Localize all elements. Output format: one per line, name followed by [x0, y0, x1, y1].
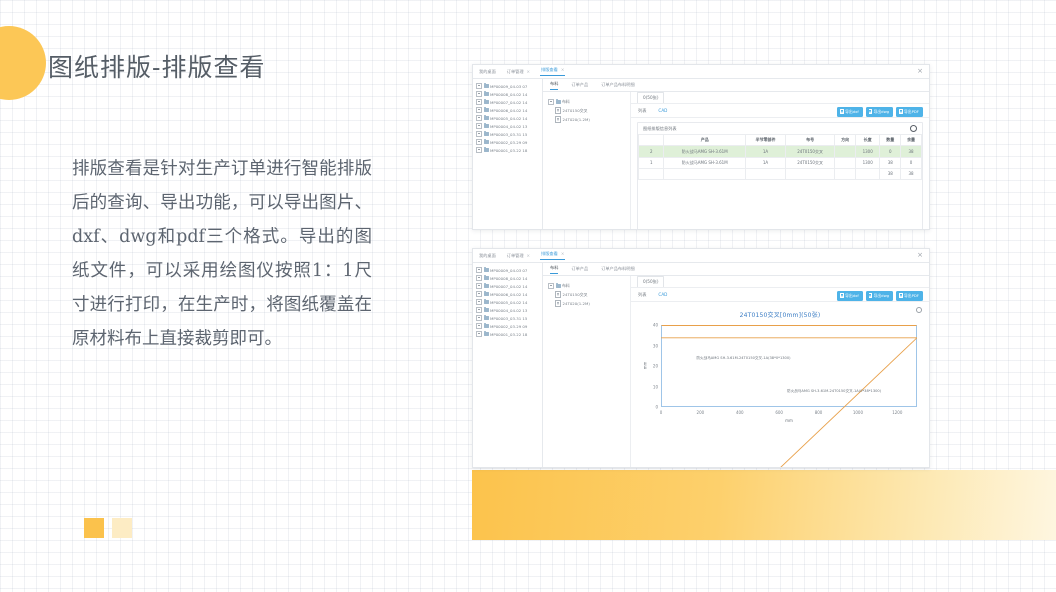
tab-order-management[interactable]: 订单管理× — [506, 69, 531, 75]
export-pdf-label: 导出PDF — [904, 293, 919, 299]
content-split-top: 布料 24T0150交叉 24T020(1.2M) 0(50张) 列表 CAD … — [543, 92, 929, 230]
tab-label: 排版查看 — [541, 67, 558, 72]
file-icon — [555, 300, 561, 307]
cell-direction — [835, 157, 856, 168]
list-item[interactable]: MP00001_03.22 18 — [476, 330, 542, 338]
th-direction: 方向 — [835, 135, 856, 146]
checkbox-icon[interactable] — [476, 139, 482, 145]
tab-close-icon[interactable]: × — [561, 67, 565, 72]
tab-my-desktop[interactable]: 我的桌面 — [478, 253, 497, 259]
cell-index: 2 — [639, 146, 664, 157]
x-axis-label: mm — [661, 418, 917, 423]
tree-child-label: 24T020(1.2M) — [563, 117, 590, 122]
top-window-body: MP00009_04.03 07 MP00008_04.02 14 MP0000… — [473, 79, 929, 230]
tab-list-view[interactable]: 列表 — [638, 108, 646, 114]
tree-child[interactable]: 24T0150交叉 — [548, 290, 630, 299]
cell-part: 1A — [745, 146, 785, 157]
fabric-tree-top[interactable]: 布料 24T0150交叉 24T020(1.2M) — [543, 92, 631, 230]
file-icon — [555, 107, 561, 114]
folder-icon — [484, 268, 489, 272]
export-dwg-label: 导出dwg — [874, 109, 890, 115]
list-item-label: MP00005_04.02 14 — [490, 300, 527, 305]
decorative-square-pale — [112, 518, 132, 538]
export-dwg-button[interactable]: 导出dwg — [866, 291, 893, 301]
top-content-column: 布料 订单产品 订单产品布料明细 布料 24T0150交叉 24T020(1.2… — [543, 79, 929, 230]
export-button-group: 导出dxf 导出dwg 导出PDF — [837, 107, 923, 117]
list-item-label: MP00004_04.02 13 — [490, 308, 527, 313]
list-item-label: MP00008_04.02 14 — [490, 276, 527, 281]
export-pdf-button[interactable]: 导出PDF — [896, 107, 923, 117]
table-row[interactable]: 2 防火战马AMG SH-3.61M 1A 24T0150交叉 1300 0 3… — [639, 146, 922, 157]
tab-order-product-fabric-detail[interactable]: 订单产品布料明细 — [601, 82, 635, 88]
tab-close-icon[interactable]: × — [527, 253, 531, 258]
list-item-label: MP00001_03.22 18 — [490, 332, 527, 337]
folder-icon — [556, 100, 561, 104]
y-tick-label: 20 — [653, 364, 658, 369]
checkbox-icon[interactable] — [476, 331, 482, 337]
cell-part — [745, 169, 785, 179]
fabric-tree-bottom[interactable]: 布料 24T0150交叉 24T020(1.2M) — [543, 276, 631, 468]
expand-collapse-icon[interactable] — [548, 283, 554, 289]
cell-length: 1300 — [856, 157, 880, 168]
folder-icon — [484, 132, 489, 136]
cell-remaining-total: 38 — [901, 169, 922, 179]
gear-icon[interactable] — [910, 125, 917, 132]
tree-root[interactable]: 布料 — [548, 97, 630, 106]
th-part: 半节零部件 — [745, 135, 785, 146]
x-tick-label: 400 — [736, 410, 744, 415]
file-export-icon — [899, 109, 902, 113]
order-tree-list-bottom[interactable]: MP00009_04.03 07 MP00008_04.02 14 MP0000… — [473, 263, 543, 468]
sheet-tab[interactable]: 0(50张) — [637, 92, 664, 102]
checkbox-icon[interactable] — [476, 315, 482, 321]
tree-child-label: 24T0150交叉 — [563, 292, 588, 298]
checkbox-icon[interactable] — [476, 307, 482, 313]
export-dxf-button[interactable]: 导出dxf — [837, 107, 862, 117]
folder-icon — [484, 276, 489, 280]
content-tabbar-bottom: 布料 订单产品 订单产品布料明细 — [543, 263, 929, 276]
x-tick-label: 600 — [775, 410, 783, 415]
folder-icon — [484, 316, 489, 320]
file-export-icon — [840, 293, 843, 297]
tab-fabric[interactable]: 布料 — [550, 265, 558, 274]
folder-icon — [484, 332, 489, 336]
checkbox-icon[interactable] — [476, 107, 482, 113]
y-tick-label: 0 — [655, 405, 658, 410]
checkbox-icon[interactable] — [476, 91, 482, 97]
cell-remaining: 38 — [901, 146, 922, 157]
export-pdf-label: 导出PDF — [904, 109, 919, 115]
list-item-label: MP00006_04.02 14 — [490, 292, 527, 297]
list-item-label: MP00009_04.03 07 — [490, 268, 527, 273]
chart-annotation: 防火战马AMG SH-3.61M-24T0150交叉-1A(38*0*1300) — [696, 356, 790, 361]
list-item[interactable]: MP00009_04.03 07 — [476, 82, 542, 90]
x-tick-label: 1000 — [853, 410, 863, 415]
tab-cad-view[interactable]: CAD — [658, 108, 667, 113]
list-item[interactable]: MP00002_03.29 09 — [476, 322, 542, 330]
folder-icon — [484, 308, 489, 312]
layout-panel-bottom: 0(50张) 列表 CAD 导出dxf 导出dwg 导出PDF 24T0150 — [631, 276, 929, 468]
list-item-label: MP00005_04.02 14 — [490, 116, 527, 121]
list-item-label: MP00006_04.02 14 — [490, 108, 527, 113]
folder-icon — [484, 284, 489, 288]
tree-child-label: 24T020(1.2M) — [563, 301, 590, 306]
checkbox-icon[interactable] — [476, 123, 482, 129]
file-export-icon — [899, 293, 902, 297]
th-length: 长度 — [856, 135, 880, 146]
chart-plot: mm mm 010203040020040060080010001200防火战马… — [661, 325, 917, 407]
screenshot-bottom-window: 我的桌面 订单管理× 排版查看× × MP00009_04.03 07 MP00… — [472, 248, 930, 468]
file-icon — [555, 291, 561, 298]
folder-icon — [484, 300, 489, 304]
cell-part: 1A — [745, 157, 785, 168]
list-item-label: MP00007_04.02 14 — [490, 284, 527, 289]
checkbox-icon[interactable] — [476, 291, 482, 297]
window-close-icon[interactable]: × — [917, 68, 923, 75]
file-export-icon — [869, 109, 872, 113]
folder-icon — [484, 92, 489, 96]
export-button-group: 导出dxf 导出dwg 导出PDF — [837, 291, 923, 301]
cell-direction — [835, 146, 856, 157]
cell-product: 防火战马AMG SH-3.61M — [664, 157, 746, 168]
tab-layout-view[interactable]: 排版查看× — [540, 251, 565, 260]
table-total-row: 38 38 — [639, 169, 922, 179]
checkbox-icon[interactable] — [476, 83, 482, 89]
export-dxf-label: 导出dxf — [845, 293, 859, 299]
page-title: 图纸排版-排版查看 — [48, 48, 265, 84]
folder-icon — [484, 116, 489, 120]
cad-chart-area: 24T0150交叉[0mm](50张) mm mm 01020304002004… — [631, 302, 929, 468]
y-tick-label: 40 — [653, 323, 658, 328]
chart-lines — [661, 325, 917, 468]
tab-label: 排版查看 — [541, 251, 558, 256]
tab-order-product-fabric-detail[interactable]: 订单产品布料明细 — [601, 266, 635, 272]
tree-root-label: 布料 — [562, 99, 570, 105]
checkbox-icon[interactable] — [476, 99, 482, 105]
tab-order-product[interactable]: 订单产品 — [571, 266, 588, 272]
th-product: 产品 — [664, 135, 746, 146]
x-tick-label: 800 — [815, 410, 823, 415]
checkbox-icon[interactable] — [476, 299, 482, 305]
cell-remaining: 0 — [901, 157, 922, 168]
folder-icon — [484, 140, 489, 144]
export-dxf-button[interactable]: 导出dxf — [837, 291, 862, 301]
sheet-tab[interactable]: 0(50张) — [637, 276, 664, 286]
view-mode-tabs: 列表 CAD 导出dxf 导出dwg 导出PDF — [631, 104, 929, 118]
folder-icon — [484, 324, 489, 328]
tab-label: 我的桌面 — [479, 253, 496, 258]
th-quantity: 数量 — [880, 135, 901, 146]
tab-label: 我的桌面 — [479, 69, 496, 74]
y-tick-label: 10 — [653, 384, 658, 389]
th-remaining: 余量 — [901, 135, 922, 146]
export-dwg-button[interactable]: 导出dwg — [866, 107, 893, 117]
list-item[interactable]: MP00001_03.22 18 — [476, 146, 542, 154]
folder-icon — [484, 100, 489, 104]
tree-child-label: 24T0150交叉 — [563, 108, 588, 114]
cell-direction — [835, 169, 856, 179]
list-item[interactable]: MP00007_04.02 14 — [476, 98, 542, 106]
tree-child[interactable]: 24T0150交叉 — [548, 106, 630, 115]
cell-length: 1300 — [856, 146, 880, 157]
tab-order-management[interactable]: 订单管理× — [506, 253, 531, 259]
folder-icon — [484, 148, 489, 152]
folder-icon — [484, 124, 489, 128]
top-tabbar: 我的桌面 订单管理× 排版查看× × — [473, 65, 929, 79]
cell-fabric-no: 24T0150交叉 — [786, 157, 835, 168]
tab-my-desktop[interactable]: 我的桌面 — [478, 69, 497, 75]
folder-icon — [556, 284, 561, 288]
checkbox-icon[interactable] — [476, 115, 482, 121]
y-axis-label: mm — [642, 362, 647, 370]
bottom-window-body: MP00009_04.03 07 MP00008_04.02 14 MP0000… — [473, 263, 929, 468]
export-dwg-label: 导出dwg — [874, 293, 890, 299]
list-item[interactable]: MP00005_04.02 14 — [476, 298, 542, 306]
folder-icon — [484, 84, 489, 88]
list-item-label: MP00001_03.22 18 — [490, 148, 527, 153]
table-header-row: 产品 半节零部件 布号 方向 长度 数量 余量 — [639, 135, 922, 146]
content-tabbar-top: 布料 订单产品 订单产品布料明细 — [543, 79, 929, 92]
sheet-tab-strip: 0(50张) — [631, 276, 929, 288]
list-item[interactable]: MP00006_04.02 14 — [476, 290, 542, 298]
list-item[interactable]: MP00008_04.02 14 — [476, 90, 542, 98]
th-fabric-no: 布号 — [786, 135, 835, 146]
x-tick-label: 200 — [697, 410, 705, 415]
cell-index — [639, 169, 664, 179]
export-pdf-button[interactable]: 导出PDF — [896, 291, 923, 301]
cell-length — [856, 169, 880, 179]
order-tree-list-top[interactable]: MP00009_04.03 07 MP00008_04.02 14 MP0000… — [473, 79, 543, 230]
window-close-icon[interactable]: × — [917, 252, 923, 259]
cell-product: 防火战马AMG SH-3.61M — [664, 146, 746, 157]
decorative-circle — [0, 26, 46, 100]
tab-order-product[interactable]: 订单产品 — [571, 82, 588, 88]
tab-fabric[interactable]: 布料 — [550, 81, 558, 90]
file-export-icon — [840, 109, 843, 113]
list-item[interactable]: MP00005_04.02 14 — [476, 114, 542, 122]
tab-close-icon[interactable]: × — [561, 251, 565, 256]
checkbox-icon[interactable] — [476, 275, 482, 281]
tree-root[interactable]: 布料 — [548, 281, 630, 290]
decorative-gradient-band — [472, 470, 1056, 540]
layout-info-table-card: 图纸排版信息列表 产品 半节零部件 布号 方向 — [637, 122, 923, 230]
cell-product — [664, 169, 746, 179]
list-item[interactable]: MP00007_04.02 14 — [476, 282, 542, 290]
export-dxf-label: 导出dxf — [845, 109, 859, 115]
view-mode-tabs: 列表 CAD 导出dxf 导出dwg 导出PDF — [631, 288, 929, 302]
bottom-tabbar: 我的桌面 订单管理× 排版查看× × — [473, 249, 929, 263]
checkbox-icon[interactable] — [476, 147, 482, 153]
file-icon — [555, 116, 561, 123]
list-item[interactable]: MP00003_03.31 15 — [476, 314, 542, 322]
list-item-label: MP00003_03.31 15 — [490, 132, 527, 137]
list-item-label: MP00002_03.29 09 — [490, 140, 527, 145]
list-item-label: MP00003_03.31 15 — [490, 316, 527, 321]
list-item[interactable]: MP00009_04.03 07 — [476, 266, 542, 274]
checkbox-icon[interactable] — [476, 323, 482, 329]
tree-child[interactable]: 24T020(1.2M) — [548, 115, 630, 124]
cell-quantity-total: 38 — [880, 169, 901, 179]
layout-info-table: 产品 半节零部件 布号 方向 长度 数量 余量 — [638, 134, 922, 180]
x-tick-label: 1200 — [892, 410, 902, 415]
folder-icon — [484, 108, 489, 112]
table-row[interactable]: 1 防火战马AMG SH-3.61M 1A 24T0150交叉 1300 38 … — [639, 157, 922, 168]
tree-root-label: 布料 — [562, 283, 570, 289]
checkbox-icon[interactable] — [476, 283, 482, 289]
sheet-tab-strip: 0(50张) — [631, 92, 929, 104]
cell-index: 1 — [639, 157, 664, 168]
list-item[interactable]: MP00008_04.02 14 — [476, 274, 542, 282]
tab-layout-view[interactable]: 排版查看× — [540, 67, 565, 76]
checkbox-icon[interactable] — [476, 267, 482, 273]
y-tick-label: 30 — [653, 343, 658, 348]
list-item[interactable]: MP00006_04.02 14 — [476, 106, 542, 114]
tab-label: 订单管理 — [507, 253, 524, 258]
list-item[interactable]: MP00004_04.02 13 — [476, 306, 542, 314]
screenshot-top-window: 我的桌面 订单管理× 排版查看× × MP00009_04.03 07 MP00… — [472, 64, 930, 230]
list-item[interactable]: MP00002_03.29 09 — [476, 138, 542, 146]
tab-label: 订单管理 — [507, 69, 524, 74]
th-index — [639, 135, 664, 146]
tree-child[interactable]: 24T020(1.2M) — [548, 299, 630, 308]
tab-close-icon[interactable]: × — [527, 69, 531, 74]
slide-body-text: 排版查看是针对生产订单进行智能排版后的查询、导出功能，可以导出图片、dxf、dw… — [72, 152, 372, 356]
file-export-icon — [869, 293, 872, 297]
bottom-content-column: 布料 订单产品 订单产品布料明细 布料 24T0150交叉 24T020(1.2… — [543, 263, 929, 468]
tab-list-view[interactable]: 列表 — [638, 292, 646, 298]
list-item[interactable]: MP00003_03.31 15 — [476, 130, 542, 138]
cell-fabric-no: 24T0150交叉 — [786, 146, 835, 157]
folder-icon — [484, 292, 489, 296]
list-item-label: MP00002_03.29 09 — [490, 324, 527, 329]
cell-quantity: 38 — [880, 157, 901, 168]
table-caption-row: 图纸排版信息列表 — [638, 123, 922, 134]
expand-collapse-icon[interactable] — [548, 99, 554, 105]
chart-annotation: 防火战马AMG SH-3.61M-24T0150交叉-1A(0*38*1300) — [787, 389, 881, 394]
list-item-label: MP00008_04.02 14 — [490, 92, 527, 97]
table-caption: 图纸排版信息列表 — [643, 126, 677, 132]
content-split-bottom: 布料 24T0150交叉 24T020(1.2M) 0(50张) 列表 CAD … — [543, 276, 929, 468]
checkbox-icon[interactable] — [476, 131, 482, 137]
gear-icon[interactable] — [916, 307, 922, 313]
cell-fabric-no — [786, 169, 835, 179]
list-item[interactable]: MP00004_04.02 13 — [476, 122, 542, 130]
tab-cad-view[interactable]: CAD — [658, 292, 667, 297]
list-item-label: MP00007_04.02 14 — [490, 100, 527, 105]
layout-panel-top: 0(50张) 列表 CAD 导出dxf 导出dwg 导出PDF 图纸排版信 — [631, 92, 929, 230]
cell-quantity: 0 — [880, 146, 901, 157]
x-tick-label: 0 — [660, 410, 663, 415]
chart-title: 24T0150交叉[0mm](50张) — [637, 310, 923, 319]
list-item-label: MP00009_04.03 07 — [490, 84, 527, 89]
list-item-label: MP00004_04.02 13 — [490, 124, 527, 129]
decorative-square-solid — [84, 518, 104, 538]
